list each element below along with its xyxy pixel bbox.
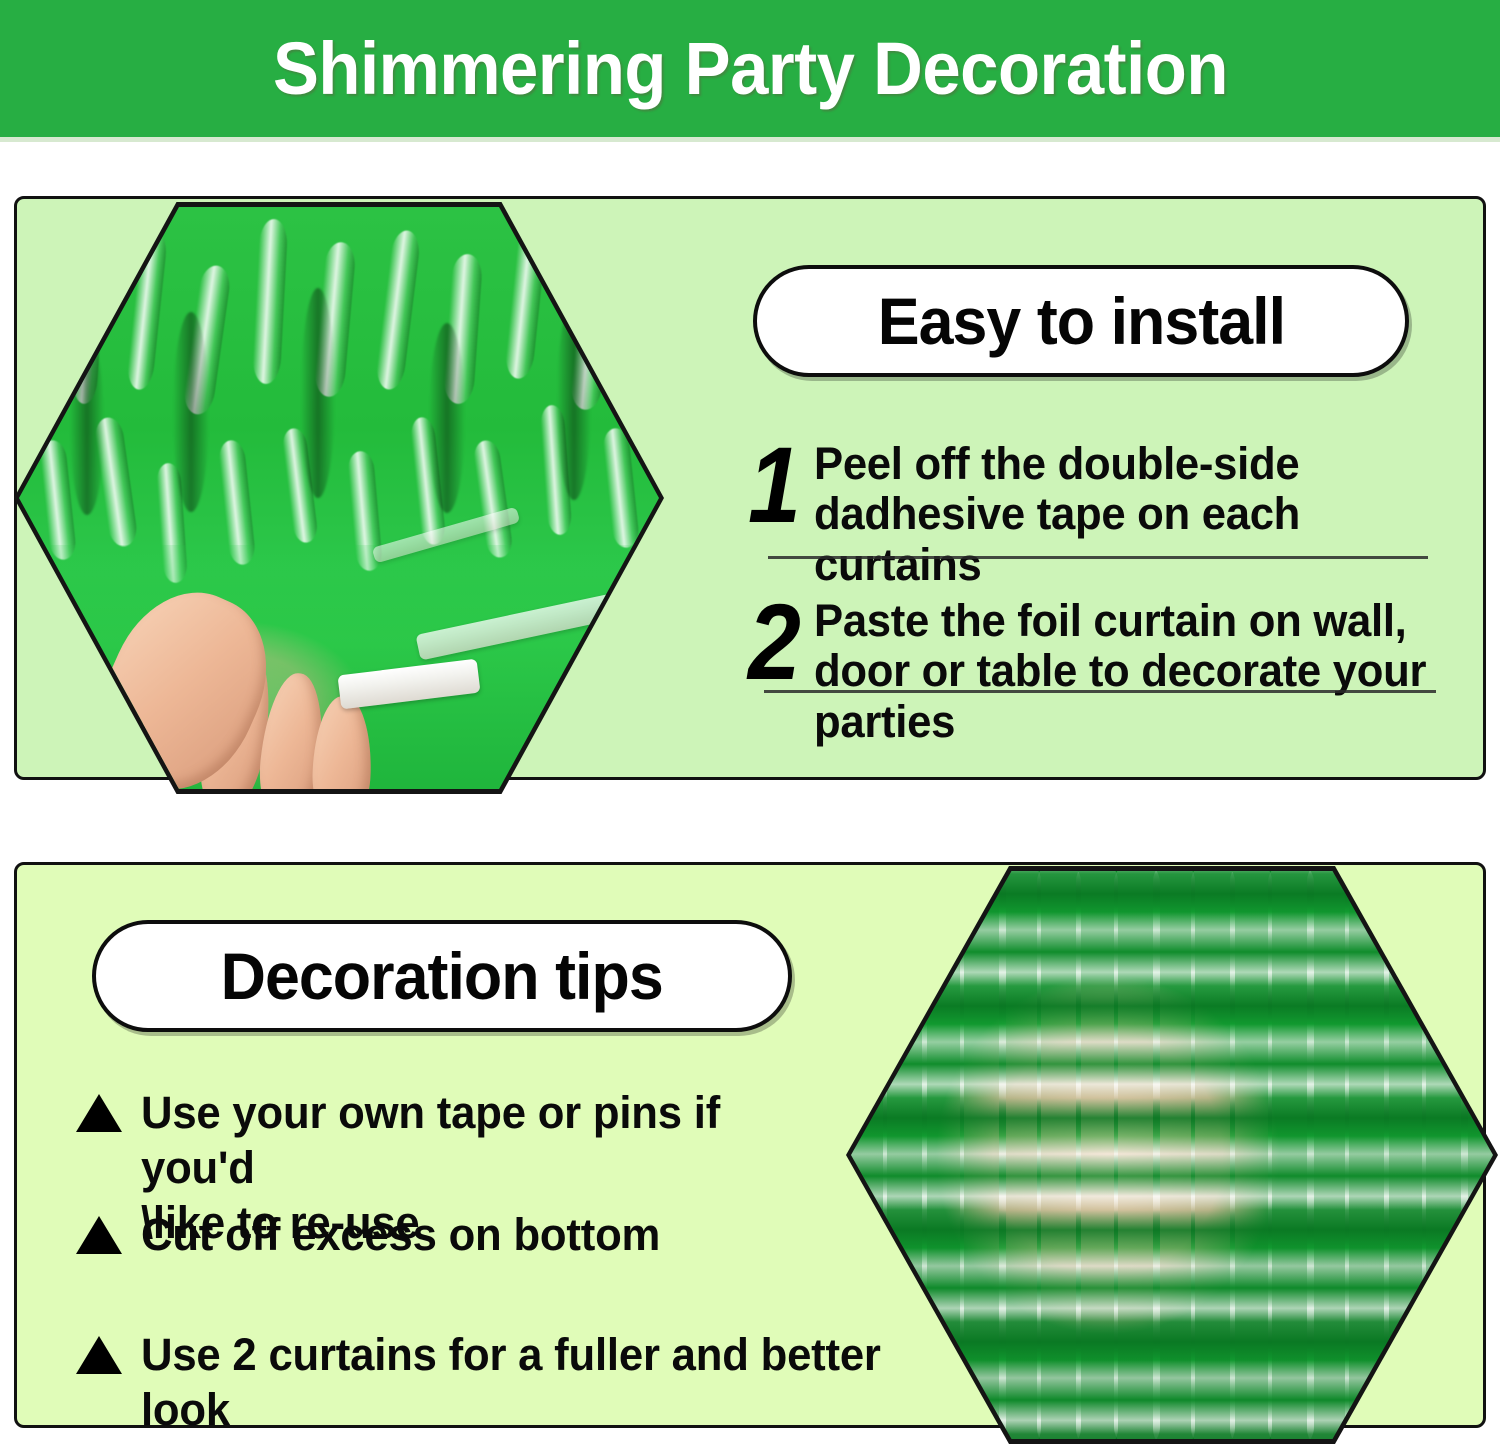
install-step-2: 2 Paste the foil curtain on wall, door o…	[748, 592, 1448, 747]
decoration-tip-3: Use 2 curtains for a fuller and better l…	[76, 1328, 916, 1438]
triangle-bullet-icon	[76, 1216, 122, 1254]
decoration-tips-title-pill: Decoration tips	[92, 920, 792, 1032]
easy-to-install-title: Easy to install	[877, 283, 1284, 359]
decoration-tips-title: Decoration tips	[221, 938, 663, 1014]
triangle-bullet-icon	[76, 1336, 122, 1374]
install-step-1-divider	[768, 556, 1428, 559]
page-title: Shimmering Party Decoration	[273, 26, 1228, 111]
install-step-1-number: 1	[748, 435, 801, 534]
decoration-tip-2: Cut off excess on bottom	[76, 1208, 836, 1263]
decoration-tip-2-text: Cut off excess on bottom	[141, 1208, 660, 1263]
install-step-2-number: 2	[748, 592, 801, 691]
header-banner: Shimmering Party Decoration	[0, 0, 1500, 137]
easy-to-install-title-pill: Easy to install	[753, 265, 1409, 377]
install-step-2-divider	[764, 690, 1436, 693]
decoration-tip-3-text: Use 2 curtains for a fuller and better l…	[141, 1328, 893, 1438]
install-step-2-text: Paste the foil curtain on wall, door or …	[814, 592, 1429, 747]
install-step-1-text: Peel off the double-side dadhesive tape …	[814, 435, 1429, 590]
install-step-1: 1 Peel off the double-side dadhesive tap…	[748, 435, 1448, 590]
header-divider	[0, 137, 1500, 142]
triangle-bullet-icon	[76, 1094, 122, 1132]
